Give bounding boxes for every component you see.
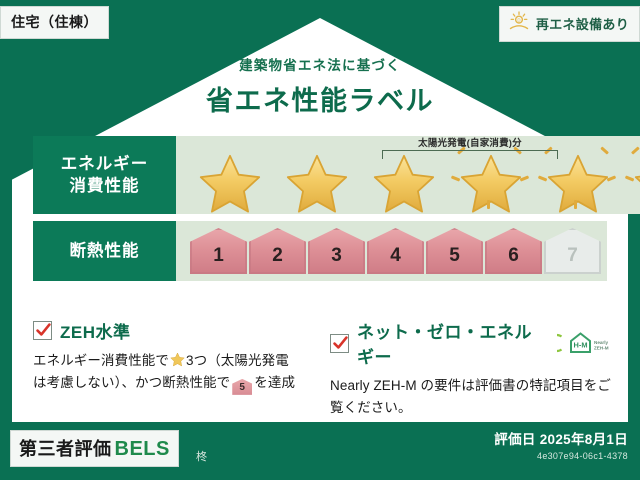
insulation-grade-1: 1: [190, 228, 247, 274]
insulation-grade-value: 2: [272, 246, 283, 274]
zeh-standard-body: エネルギー消費性能で3つ（太陽光発電は考慮しない）、かつ断熱性能で5を達成: [33, 350, 316, 395]
zeh-standard-block: ZEH水準 エネルギー消費性能で3つ（太陽光発電は考慮しない）、かつ断熱性能で5…: [33, 318, 316, 419]
evaluation-date-label: 評価日: [494, 432, 535, 447]
info-columns: ZEH水準 エネルギー消費性能で3つ（太陽光発電は考慮しない）、かつ断熱性能で5…: [33, 318, 613, 419]
star-icon: [198, 153, 262, 215]
building-type-tag: 住宅（住棟）: [0, 6, 109, 39]
bels-third-party-tag: 第三者評価 BELS: [10, 430, 179, 467]
insulation-row-label: 断熱性能: [33, 221, 176, 281]
page-title: 建築物省エネ法に基づく 省エネ性能ラベル: [0, 54, 640, 118]
inline-star-icon: [170, 352, 185, 367]
star-icon: [285, 153, 349, 215]
renewable-badge-label: 再エネ設備あり: [536, 14, 629, 33]
star-icon: [546, 153, 610, 215]
star-6-solar: [625, 147, 640, 211]
zeh-m-house-logo: H-M Nearly ZEH-M: [557, 330, 613, 356]
energy-row-label-line2: 消費性能: [70, 175, 140, 197]
zeh-check-icon: [33, 321, 52, 340]
svg-text:H-M: H-M: [574, 340, 588, 349]
net-zero-energy-block: ネット・ゼロ・エネルギー H-M Nearly ZEH-M Nearly ZEH…: [330, 318, 613, 419]
zeh-standard-title: ZEH水準: [60, 318, 131, 343]
footer-bar: 第三者評価 BELS 柊 評価日 2025年8月1日 4e307e94-06c1…: [0, 422, 640, 480]
insulation-grade-value: 3: [331, 246, 342, 274]
bels-jp-label: 第三者評価: [19, 435, 112, 461]
zeh-standard-header: ZEH水準: [33, 318, 316, 343]
star-5-solar: [538, 147, 619, 211]
evaluation-date: 評価日 2025年8月1日: [494, 428, 628, 448]
energy-row-value: 太陽光発電(自家消費)分: [176, 136, 640, 214]
net-zero-title: ネット・ゼロ・エネルギー: [357, 318, 543, 368]
energy-row-label: エネルギー 消費性能: [33, 136, 176, 214]
star-rating: [176, 147, 640, 211]
zeh-body-part1: エネルギー消費性能で: [33, 353, 169, 368]
sun-solar-icon: D: [508, 11, 530, 36]
star-1: [190, 147, 271, 211]
insulation-grade-2: 2: [249, 228, 306, 274]
insulation-grade-value: 7: [567, 246, 578, 274]
insulation-grade-scale: 1234567: [176, 228, 601, 274]
evaluation-id: 4e307e94-06c1-4378: [494, 451, 628, 461]
insulation-performance-row: 断熱性能 1234567: [33, 221, 607, 281]
insulation-grade-value: 6: [508, 246, 519, 274]
insulation-grade-3: 3: [308, 228, 365, 274]
evaluation-date-value: 2025年8月1日: [540, 432, 628, 447]
bels-en-label: BELS: [115, 438, 170, 461]
zeh-body-star-count: 3つ（太陽光発電: [186, 353, 289, 368]
energy-row-label-line1: エネルギー: [61, 153, 149, 175]
star-3: [364, 147, 445, 211]
star-icon: [459, 153, 523, 215]
title-subtitle: 建築物省エネ法に基づく: [0, 54, 640, 74]
insulation-grade-4: 4: [367, 228, 424, 274]
zeh-body-part3: を達成: [254, 375, 295, 390]
rating-rows: エネルギー 消費性能 太陽光発電(自家消費)分 断熱性能: [33, 136, 607, 281]
insulation-grade-value: 4: [390, 246, 401, 274]
net-zero-header: ネット・ゼロ・エネルギー H-M Nearly ZEH-M: [330, 318, 613, 368]
star-icon: [633, 153, 640, 215]
insulation-grade-7: 7: [544, 228, 601, 274]
energy-performance-row: エネルギー 消費性能 太陽光発電(自家消費)分: [33, 136, 607, 214]
insulation-row-value: 1234567: [176, 221, 607, 281]
insulation-grade-6: 6: [485, 228, 542, 274]
svg-text:Nearly: Nearly: [594, 340, 608, 345]
net-zero-body: Nearly ZEH-M の要件は評価書の特記項目をご覧ください。: [330, 375, 613, 419]
inline-grade-value: 5: [232, 379, 252, 396]
title-main: 省エネ性能ラベル: [0, 79, 640, 118]
insulation-grade-value: 1: [213, 246, 224, 274]
star-2: [277, 147, 358, 211]
insulation-row-label-text: 断熱性能: [70, 240, 140, 262]
energy-label-root: 住宅（住棟） D 再エネ設備あり 建築物省エネ法に基づく 省エネ性能ラベル: [0, 0, 640, 480]
insulation-grade-5: 5: [426, 228, 483, 274]
insulation-grade-value: 5: [449, 246, 460, 274]
evaluation-info: 評価日 2025年8月1日 4e307e94-06c1-4378: [494, 428, 628, 461]
bels-issuer-mark: 柊: [196, 448, 207, 464]
inline-grade-badge: 5: [232, 379, 252, 395]
zeh-body-part2: は考慮しない）、かつ断熱性能で: [33, 375, 230, 390]
svg-text:ZEH-M: ZEH-M: [594, 345, 609, 350]
svg-text:D: D: [517, 18, 520, 23]
nze-check-icon: [330, 334, 349, 353]
star-icon: [372, 153, 436, 215]
renewable-equipment-badge: D 再エネ設備あり: [499, 6, 640, 42]
star-4-solar: [451, 147, 532, 211]
